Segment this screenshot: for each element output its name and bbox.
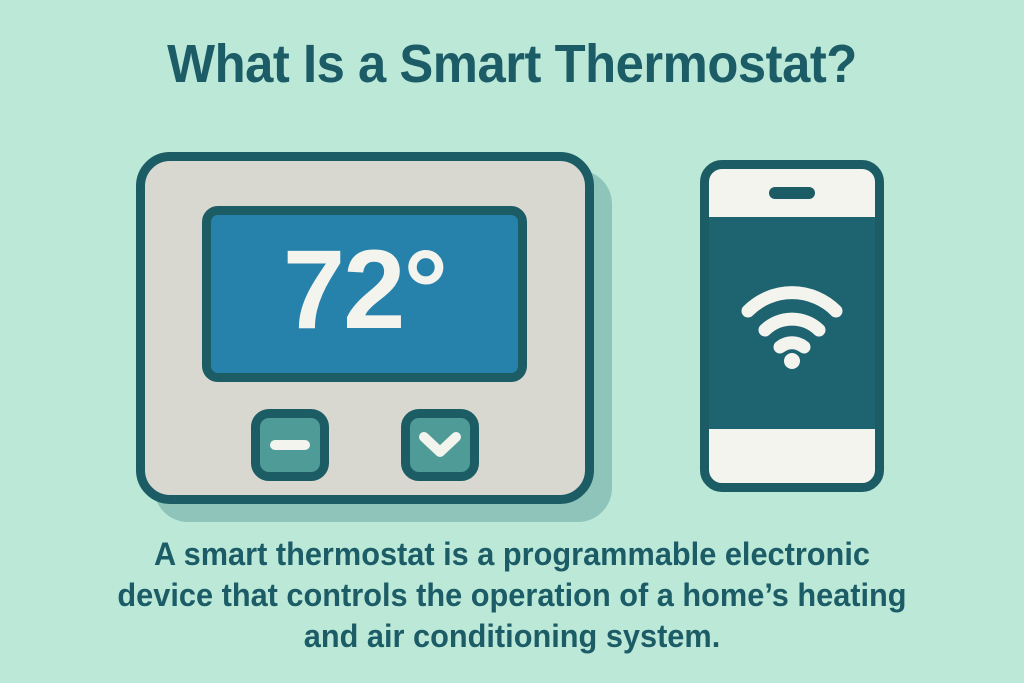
minus-icon bbox=[270, 440, 310, 450]
phone-screen bbox=[709, 217, 875, 429]
minus-button[interactable] bbox=[251, 409, 329, 481]
smart-thermostat: 72° bbox=[136, 152, 626, 524]
temperature-readout: 72° bbox=[283, 234, 446, 346]
thermostat-body: 72° bbox=[136, 152, 594, 504]
phone-body bbox=[700, 160, 884, 492]
speaker-slot-icon bbox=[769, 187, 815, 199]
infographic-canvas: What Is a Smart Thermostat? 72° bbox=[0, 0, 1024, 683]
caption-text: A smart thermostat is a programmable ele… bbox=[20, 534, 1003, 657]
chevron-down-icon bbox=[419, 431, 461, 459]
smartphone bbox=[700, 160, 900, 510]
chevron-down-button[interactable] bbox=[401, 409, 479, 481]
thermostat-display-screen: 72° bbox=[202, 206, 527, 382]
page-title: What Is a Smart Thermostat? bbox=[31, 36, 994, 93]
wifi-icon bbox=[738, 277, 846, 369]
illustration-stage: 72° bbox=[0, 142, 1024, 530]
thermostat-button-row bbox=[145, 409, 585, 481]
